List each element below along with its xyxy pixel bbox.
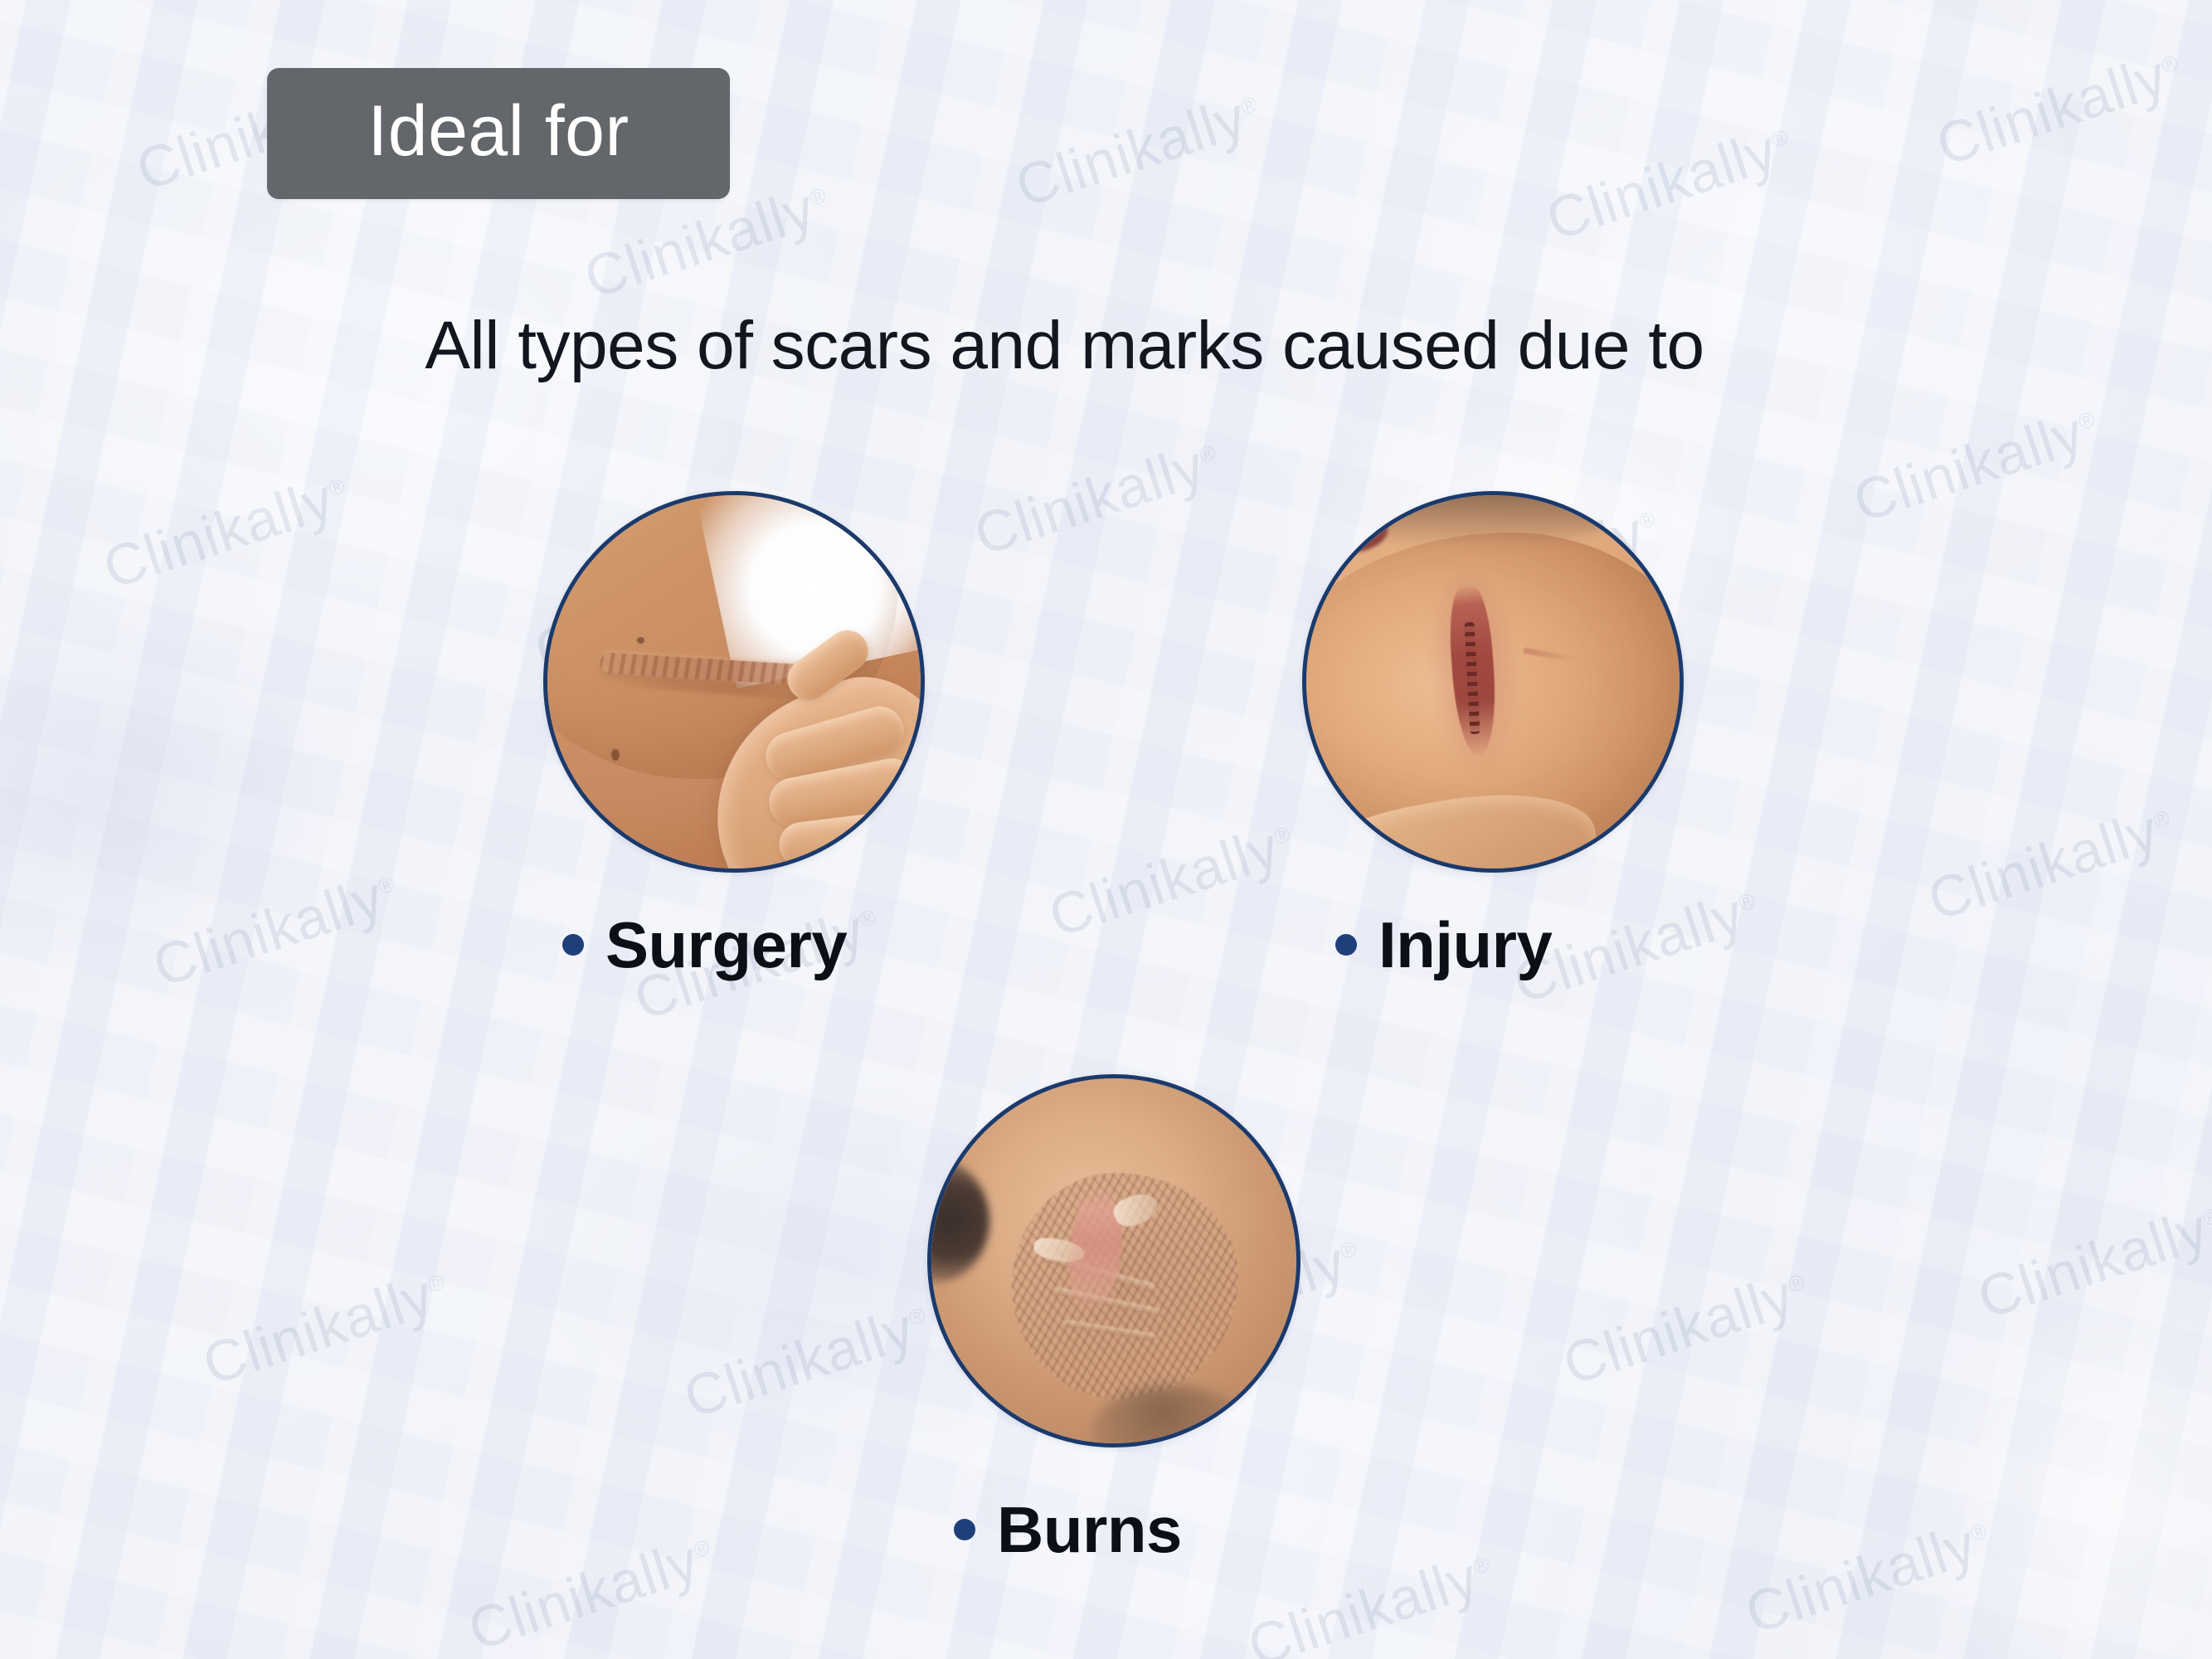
surgery-photo-ring <box>543 491 925 873</box>
bullet-dot-icon <box>562 934 584 956</box>
brand-watermark: Clinikally® <box>1041 809 1303 951</box>
registered-mark-icon: ® <box>690 1535 713 1564</box>
brand-watermark: Clinikally® <box>95 460 357 602</box>
registered-mark-icon: ® <box>806 182 829 212</box>
brand-watermark: Clinikally® <box>1539 112 1801 254</box>
burn-scar-photo <box>931 1078 1296 1443</box>
brand-watermark: Clinikally® <box>460 1522 722 1659</box>
caption-label-surgery: Surgery <box>605 912 847 977</box>
registered-mark-icon: ® <box>1196 440 1219 469</box>
registered-mark-icon: ® <box>375 871 398 900</box>
page-title: All types of scars and marks caused due … <box>0 309 2212 383</box>
registered-mark-icon: ® <box>2150 805 2173 834</box>
caption-label-burns: Burns <box>997 1497 1182 1562</box>
brand-watermark: Clinikally® <box>1845 394 2107 536</box>
registered-mark-icon: ® <box>856 904 879 933</box>
skin-mole <box>611 749 620 761</box>
caption-burns: Burns <box>954 1497 1182 1562</box>
brand-watermark: Clinikally® <box>145 859 407 1000</box>
brand-watermark: Clinikally® <box>1928 37 2190 179</box>
bullet-dot-icon <box>1335 934 1357 956</box>
injury-wound-photo <box>1306 495 1680 868</box>
registered-mark-icon: ® <box>1470 1551 1493 1580</box>
registered-mark-icon: ® <box>1768 124 1791 153</box>
registered-mark-icon: ® <box>325 473 348 502</box>
caption-label-injury: Injury <box>1378 912 1552 977</box>
burns-photo-ring <box>927 1074 1300 1447</box>
bullet-dot-icon <box>954 1519 975 1540</box>
registered-mark-icon: ® <box>1735 888 1758 917</box>
card-burns <box>927 1074 1300 1447</box>
registered-mark-icon: ® <box>1237 91 1261 120</box>
card-injury <box>1302 491 1684 873</box>
brand-watermark: Clinikally® <box>1008 79 1270 221</box>
surgery-scar-photo <box>547 495 921 868</box>
card-surgery <box>543 491 925 873</box>
poster-canvas: Clinikally®Clinikally®Clinikally®Clinika… <box>0 0 2212 1659</box>
registered-mark-icon: ® <box>2158 50 2181 79</box>
registered-mark-icon: ® <box>1967 1518 1991 1547</box>
registered-mark-icon: ® <box>1271 821 1294 850</box>
registered-mark-icon: ® <box>1337 1236 1360 1265</box>
registered-mark-icon: ® <box>2200 1203 2212 1232</box>
brand-watermark: Clinikally® <box>195 1257 457 1399</box>
brand-watermark: Clinikally® <box>1240 1539 1502 1659</box>
registered-mark-icon: ® <box>425 1269 448 1298</box>
registered-mark-icon: ® <box>906 1302 929 1331</box>
brand-watermark: Clinikally® <box>966 427 1228 569</box>
ideal-for-badge-label: Ideal for <box>367 95 629 172</box>
caption-injury: Injury <box>1335 912 1552 977</box>
brand-watermark: Clinikally® <box>1738 1506 2000 1647</box>
ideal-for-badge: Ideal for <box>267 68 730 199</box>
skin-mole <box>637 637 644 644</box>
brand-watermark: Clinikally® <box>676 1290 938 1432</box>
registered-mark-icon: ® <box>1785 1269 1808 1298</box>
brand-watermark: Clinikally® <box>1920 792 2182 934</box>
caption-surgery: Surgery <box>562 912 847 977</box>
injury-photo-ring <box>1302 491 1684 873</box>
brand-watermark: Clinikally® <box>1970 1190 2212 1332</box>
brand-watermark: Clinikally® <box>1555 1257 1817 1399</box>
registered-mark-icon: ® <box>2075 406 2098 435</box>
